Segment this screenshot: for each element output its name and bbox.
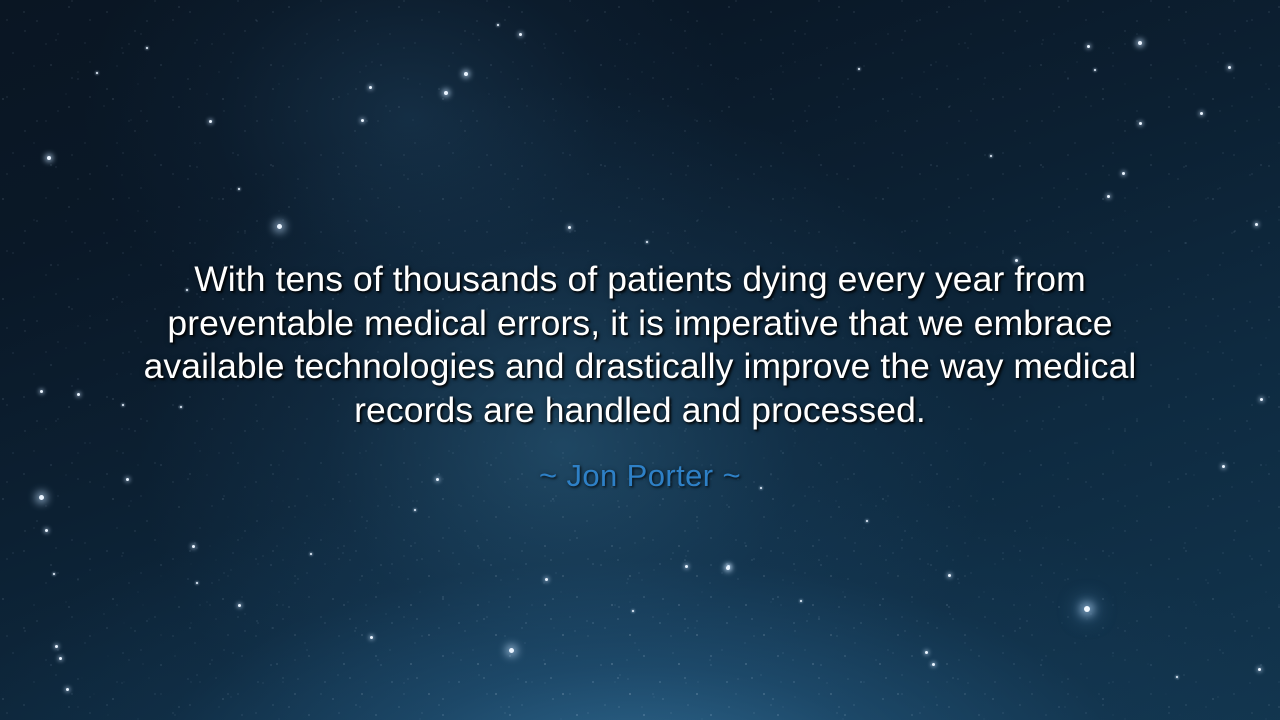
star: [1258, 668, 1261, 671]
star: [55, 645, 58, 648]
star: [45, 529, 48, 532]
star: [196, 582, 198, 584]
quote-block: With tens of thousands of patients dying…: [0, 258, 1280, 494]
star: [497, 24, 499, 26]
star: [361, 119, 364, 122]
star: [1255, 223, 1258, 226]
star: [990, 155, 992, 157]
star: [146, 47, 148, 49]
star: [464, 72, 468, 76]
star: [444, 91, 448, 95]
star: [277, 224, 282, 229]
star: [519, 33, 522, 36]
star: [948, 574, 951, 577]
star: [726, 566, 730, 570]
star: [369, 86, 372, 89]
star: [47, 156, 51, 160]
star: [1122, 172, 1125, 175]
star: [1176, 676, 1178, 678]
star: [866, 520, 868, 522]
star: [39, 495, 44, 500]
star: [1107, 195, 1110, 198]
star: [800, 600, 802, 602]
star: [509, 648, 514, 653]
quote-slide: With tens of thousands of patients dying…: [0, 0, 1280, 720]
star: [1094, 69, 1096, 71]
star: [1139, 122, 1142, 125]
star: [59, 657, 62, 660]
star: [66, 688, 69, 691]
star: [238, 188, 240, 190]
star: [545, 578, 548, 581]
star: [1087, 45, 1090, 48]
star: [192, 545, 195, 548]
star: [1084, 606, 1090, 612]
star: [238, 604, 241, 607]
star: [96, 72, 98, 74]
star: [646, 241, 648, 243]
star: [568, 226, 571, 229]
star: [1138, 41, 1142, 45]
star: [632, 610, 634, 612]
star: [932, 663, 935, 666]
star: [414, 509, 416, 511]
star: [53, 573, 55, 575]
star: [209, 120, 212, 123]
star: [370, 636, 373, 639]
star: [858, 68, 860, 70]
quote-text: With tens of thousands of patients dying…: [58, 258, 1222, 432]
star: [1200, 112, 1203, 115]
star: [685, 565, 688, 568]
star: [1228, 66, 1231, 69]
star: [925, 651, 928, 654]
star: [310, 553, 312, 555]
quote-attribution: ~ Jon Porter ~: [58, 432, 1222, 494]
